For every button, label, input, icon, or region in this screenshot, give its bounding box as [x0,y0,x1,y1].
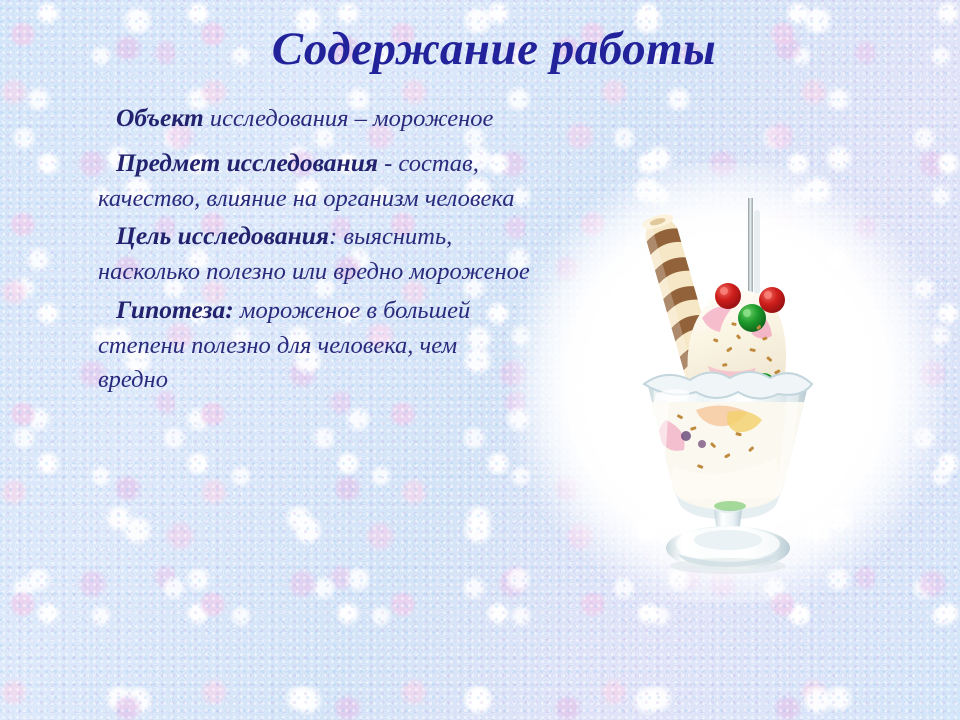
page-title: Содержание работы [0,22,960,76]
slide-canvas: Содержание работы Объект исследования – … [0,0,960,720]
paragraph-goal: Цель исследования: выяснить, насколько п… [98,218,530,290]
green-accent [714,501,746,511]
sundae-glass [644,372,812,520]
sundae-illustration [578,188,878,578]
paragraph-goal-lead: Цель исследования [116,221,329,250]
ice-cream-sundae-photo [512,163,944,603]
paragraph-subject: Предмет исследования - состав, качество,… [98,145,530,217]
base-shadow [670,558,786,574]
glass-contents [648,388,808,510]
content-text-column: Объект исследования – мороженое Предмет … [98,100,530,406]
spoon-handle [748,198,760,294]
paragraph-hypothesis: Гипотеза: мороженое в большей степени по… [98,292,530,398]
paragraph-object-rest: исследования – мороженое [204,105,494,132]
paragraph-object-lead: Объект [116,103,204,132]
paragraph-object: Объект исследования – мороженое [98,100,530,137]
paragraph-subject-lead: Предмет исследования [116,148,378,177]
paragraph-hypothesis-lead: Гипотеза: [116,295,234,324]
